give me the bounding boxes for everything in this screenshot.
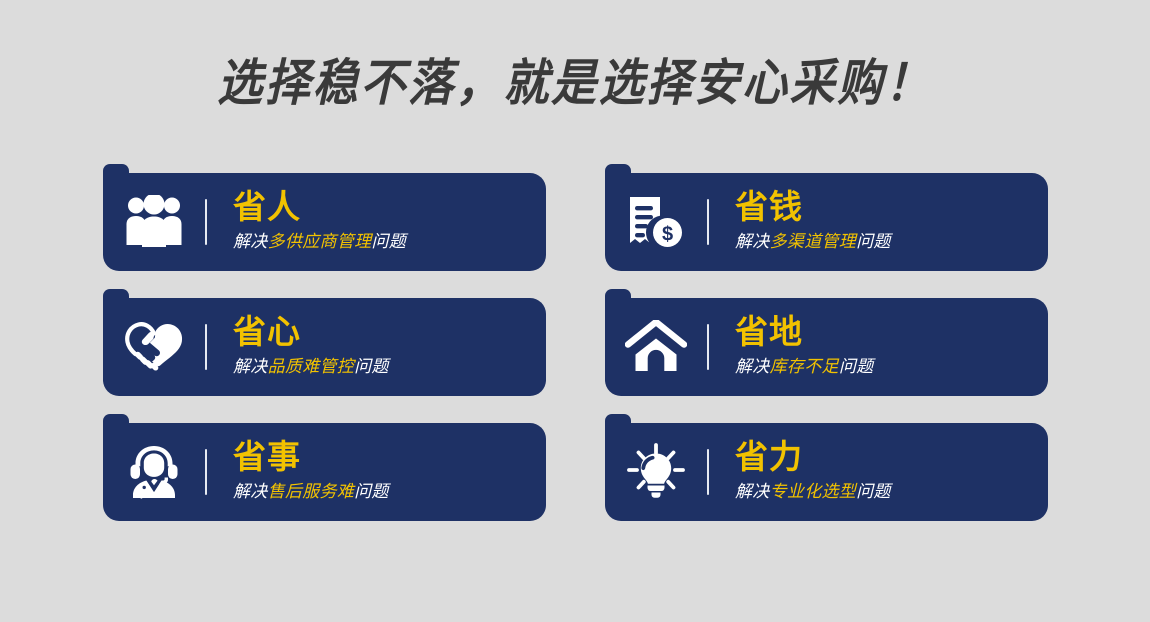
sub-suffix: 问题 [839,357,874,376]
card-title: 省人 [233,188,406,226]
sub-prefix: 解决 [735,357,770,376]
card-divider [205,199,207,245]
sub-suffix: 问题 [354,357,389,376]
sub-prefix: 解决 [735,232,770,251]
sub-highlight: 多渠道管理 [770,232,857,251]
sub-suffix: 问题 [371,232,406,251]
card-divider [707,324,709,370]
benefit-card-shengshi[interactable]: 省事 解决售后服务难问题 [103,423,546,521]
card-subtitle: 解决专业化选型问题 [735,480,891,504]
card-divider [205,449,207,495]
poster-canvas: 选择稳不落，就是选择安心采购！ [0,0,1150,622]
card-title: 省钱 [735,188,891,226]
three-people-icon [103,173,205,271]
headset-agent-icon [103,423,205,521]
card-divider [707,449,709,495]
benefit-card-grid: 省人 解决多供应商管理问题 [103,165,1048,525]
card-divider [205,324,207,370]
page-title: 选择稳不落，就是选择安心采购！ [58,52,1093,114]
sub-prefix: 解决 [735,482,770,501]
benefit-card-shengren[interactable]: 省人 解决多供应商管理问题 [103,173,546,271]
card-subtitle: 解决库存不足问题 [735,355,873,379]
sub-highlight: 多供应商管理 [268,232,372,251]
sub-suffix: 问题 [856,232,891,251]
sub-highlight: 专业化选型 [770,482,857,501]
sub-highlight: 售后服务难 [268,482,355,501]
card-divider [707,199,709,245]
sub-highlight: 库存不足 [770,357,839,376]
sub-prefix: 解决 [233,357,268,376]
benefit-card-shengdi[interactable]: 省地 解决库存不足问题 [605,298,1048,396]
sub-suffix: 问题 [354,482,389,501]
card-subtitle: 解决售后服务难问题 [233,480,389,504]
receipt-dollar-icon: $ [605,173,707,271]
card-title: 省心 [233,313,389,351]
sub-highlight: 品质难管控 [268,357,355,376]
sub-suffix: 问题 [856,482,891,501]
card-title: 省力 [735,438,891,476]
benefit-card-shengqian[interactable]: $ 省钱 解决多渠道管理问题 [605,173,1048,271]
handshake-heart-icon [103,298,205,396]
svg-text:$: $ [662,224,673,246]
card-subtitle: 解决多供应商管理问题 [233,230,406,254]
card-subtitle: 解决品质难管控问题 [233,355,389,379]
card-title: 省地 [735,313,873,351]
benefit-card-shengli[interactable]: 省力 解决专业化选型问题 [605,423,1048,521]
sub-prefix: 解决 [233,482,268,501]
home-icon [605,298,707,396]
card-title: 省事 [233,438,389,476]
sub-prefix: 解决 [233,232,268,251]
card-subtitle: 解决多渠道管理问题 [735,230,891,254]
lightbulb-icon [605,423,707,521]
benefit-card-shengxin[interactable]: 省心 解决品质难管控问题 [103,298,546,396]
